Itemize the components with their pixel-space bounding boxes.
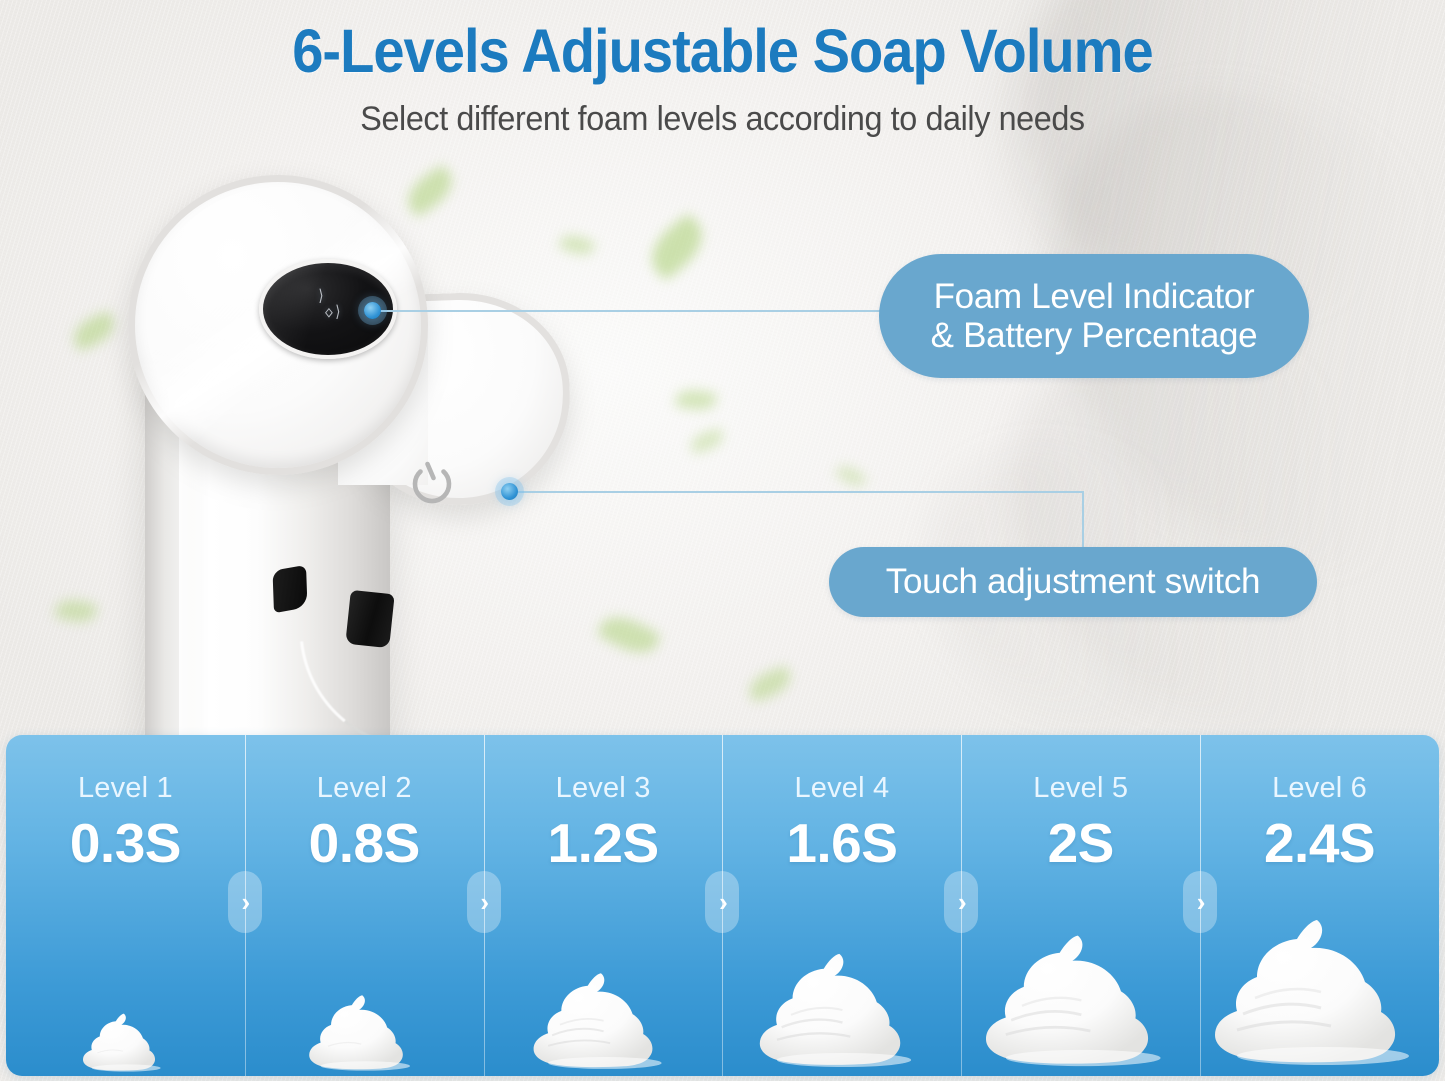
level-label: Level 2 <box>317 772 412 805</box>
header: 6-Levels Adjustable Soap Volume Select d… <box>0 16 1445 139</box>
foam-blob-icon <box>527 964 679 1076</box>
foam-blob-icon <box>79 1008 171 1076</box>
leader-line-switch-horizontal <box>509 491 1084 493</box>
foam-blob-icon <box>1205 906 1435 1076</box>
chevron-right-icon: › <box>241 889 250 915</box>
level-label: Level 5 <box>1033 772 1128 805</box>
level-label: Level 1 <box>78 772 173 805</box>
marker-dot-switch <box>501 483 518 500</box>
callout-line-1: Foam Level Indicator <box>931 277 1258 316</box>
marker-dot-display <box>364 302 381 319</box>
foam-illustration <box>6 936 245 1076</box>
level-label: Level 3 <box>556 772 651 805</box>
level-column-3[interactable]: › Level 3 1.2S <box>484 735 723 1076</box>
level-duration-value: 1.6S <box>786 811 897 875</box>
leader-line-switch-vertical <box>1082 491 1084 549</box>
level-label: Level 6 <box>1272 772 1367 805</box>
chevron-right-icon: › <box>480 889 489 915</box>
foam-blob-icon <box>752 943 931 1076</box>
level-duration-value: 2S <box>1048 811 1114 875</box>
level-duration-value: 2.4S <box>1264 811 1375 875</box>
chevron-right-icon: › <box>958 889 967 915</box>
foam-illustration <box>961 936 1200 1076</box>
callout-line-1: Touch adjustment switch <box>886 562 1260 601</box>
level-separator-chevron: › <box>944 871 978 933</box>
page-title: 6-Levels Adjustable Soap Volume <box>58 16 1387 86</box>
level-separator-chevron: › <box>228 871 262 933</box>
leader-line-indicator <box>372 310 888 312</box>
soap-dispenser-product: ⟩ ◇⟩ <box>110 165 630 765</box>
chevron-right-icon: › <box>719 889 728 915</box>
level-column-6[interactable]: › Level 6 2.4S <box>1200 735 1439 1076</box>
levels-panel: Level 1 0.3S › Level 2 0.8S <box>6 735 1439 1076</box>
infographic-root: 6-Levels Adjustable Soap Volume Select d… <box>0 0 1445 1081</box>
callout-touch-adjustment-switch: Touch adjustment switch <box>829 547 1317 617</box>
foam-illustration <box>722 936 961 1076</box>
display-segment-bottom: ◇⟩ <box>325 303 343 322</box>
callout-line-2: & Battery Percentage <box>931 316 1258 355</box>
level-duration-value: 1.2S <box>547 811 658 875</box>
level-duration-value: 0.3S <box>70 811 181 875</box>
level-separator-chevron: › <box>467 871 501 933</box>
level-duration-value: 0.8S <box>309 811 420 875</box>
foam-illustration <box>484 936 723 1076</box>
power-icon <box>406 455 458 507</box>
level-label: Level 4 <box>794 772 889 805</box>
level-column-2[interactable]: › Level 2 0.8S <box>245 735 484 1076</box>
level-column-5[interactable]: › Level 5 2S <box>961 735 1200 1076</box>
level-column-1[interactable]: Level 1 0.3S <box>6 735 245 1076</box>
level-separator-chevron: › <box>705 871 739 933</box>
foam-blob-icon <box>304 988 424 1076</box>
level-column-4[interactable]: › Level 4 1.6S <box>722 735 961 1076</box>
foam-blob-icon <box>977 923 1184 1076</box>
page-subtitle: Select different foam levels according t… <box>36 100 1409 139</box>
foam-illustration <box>245 936 484 1076</box>
foam-illustration <box>1200 936 1439 1076</box>
callout-foam-level-indicator: Foam Level Indicator & Battery Percentag… <box>879 254 1309 378</box>
